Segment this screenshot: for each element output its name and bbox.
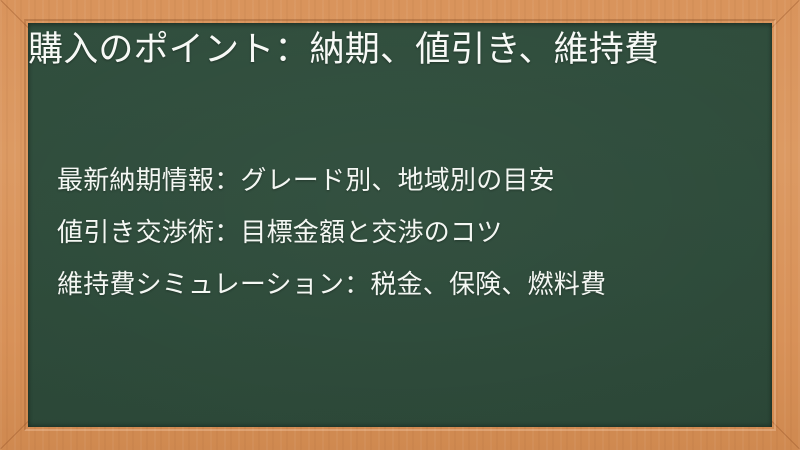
list-item: 値引き交渉術：目標金額と交渉のコツ [57, 206, 747, 258]
board-content: 購入のポイント：納期、値引き、維持費 最新納期情報：グレード別、地域別の目安 値… [28, 23, 772, 427]
list-item: 最新納期情報：グレード別、地域別の目安 [57, 154, 747, 206]
chalkboard-slide: 購入のポイント：納期、値引き、維持費 最新納期情報：グレード別、地域別の目安 値… [0, 0, 800, 450]
list-item: 維持費シミュレーション：税金、保険、燃料費 [57, 258, 747, 310]
bullet-list: 最新納期情報：グレード別、地域別の目安 値引き交渉術：目標金額と交渉のコツ 維持… [57, 154, 747, 310]
page-title: 購入のポイント：納期、値引き、維持費 [28, 27, 744, 73]
chalkboard-surface: 購入のポイント：納期、値引き、維持費 最新納期情報：グレード別、地域別の目安 値… [28, 23, 772, 427]
